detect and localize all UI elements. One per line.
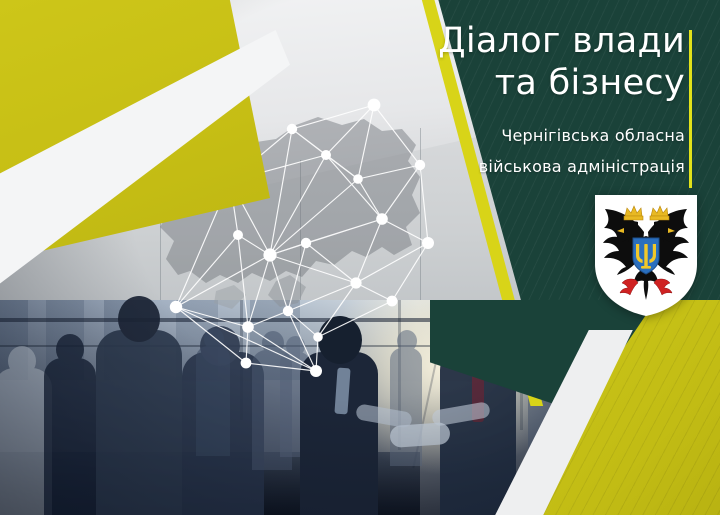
title-line-2: та бізнесу	[345, 62, 685, 104]
title-line-1: Діалог влади	[345, 20, 685, 62]
subtitle-line-1: Чернігівська обласна	[345, 120, 685, 151]
coat-of-arms	[592, 192, 700, 318]
yellow-accent-line	[689, 30, 692, 188]
title-block: Діалог влади та бізнесу	[345, 20, 685, 104]
poster-canvas: Діалог влади та бізнесу Чернігівська обл…	[0, 0, 720, 515]
subtitle-block: Чернігівська обласна військова адміністр…	[345, 120, 685, 182]
subtitle-line-2: військова адміністрація	[345, 151, 685, 182]
